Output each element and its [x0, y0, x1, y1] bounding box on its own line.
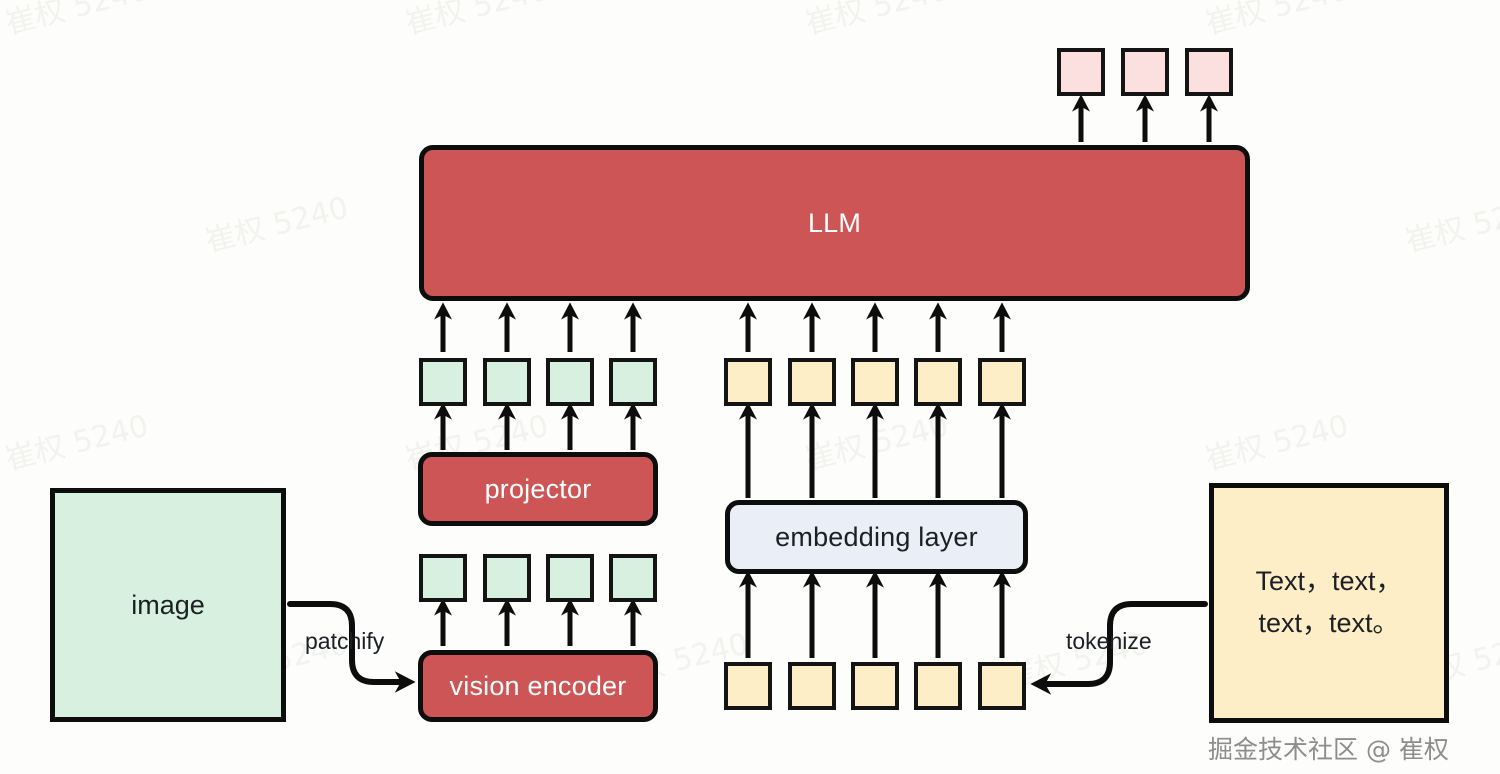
watermark-tile: 崔权 5240: [1200, 401, 1352, 479]
output-token-2: [1121, 48, 1169, 96]
image-embedding-token-4: [609, 358, 657, 406]
watermark-tile: 崔权 5240: [200, 183, 352, 261]
vision-encoder-box: vision encoder: [418, 650, 658, 722]
projector-box: projector: [418, 452, 658, 526]
watermark-tile: 崔权 5240: [1400, 183, 1500, 261]
diagram-canvas: 崔权 5240崔权 5240崔权 5240崔权 5240崔权 5240崔权 52…: [0, 0, 1500, 774]
text-token-1: [724, 662, 772, 710]
watermark-tile: 崔权 5240: [1200, 0, 1352, 43]
image-patch-token-3: [546, 554, 594, 602]
text-token-4: [914, 662, 962, 710]
image-embedding-token-1: [419, 358, 467, 406]
text-token-3: [851, 662, 899, 710]
llm-label: LLM: [808, 208, 861, 239]
watermark-tile: 崔权 5240: [0, 401, 152, 479]
embedding-layer-label: embedding layer: [775, 522, 978, 553]
image-patch-token-2: [483, 554, 531, 602]
image-embedding-token-2: [483, 358, 531, 406]
text-token-2: [788, 662, 836, 710]
watermark-tile: 崔权 5240: [400, 0, 552, 43]
llm-box: LLM: [419, 145, 1250, 301]
footer-watermark: 掘金技术社区 @ 崔权: [1208, 730, 1449, 766]
patchify-edge-label: patchify: [305, 628, 384, 655]
text-embedding-token-2: [788, 358, 836, 406]
text-embedding-token-4: [914, 358, 962, 406]
image-patch-token-4: [609, 554, 657, 602]
image-patch-token-1: [419, 554, 467, 602]
watermark-tile: 崔权 5240: [800, 401, 952, 479]
embedding-layer-box: embedding layer: [725, 500, 1028, 574]
text-embedding-token-1: [724, 358, 772, 406]
text-input-label: Text，text， text，text。: [1255, 561, 1402, 645]
text-input-box: Text，text， text，text。: [1209, 483, 1449, 723]
output-token-3: [1185, 48, 1233, 96]
image-input-box: image: [50, 488, 286, 722]
image-input-label: image: [131, 590, 205, 621]
text-embedding-token-5: [978, 358, 1026, 406]
text-token-5: [978, 662, 1026, 710]
image-embedding-token-3: [546, 358, 594, 406]
text-embedding-token-3: [851, 358, 899, 406]
tokenize-edge-label: tokenize: [1066, 628, 1152, 655]
watermark-tile: 崔权 5240: [800, 0, 952, 43]
vision-encoder-label: vision encoder: [450, 671, 627, 702]
output-token-1: [1057, 48, 1105, 96]
watermark-tile: 崔权 5240: [0, 0, 152, 43]
projector-label: projector: [485, 474, 592, 505]
